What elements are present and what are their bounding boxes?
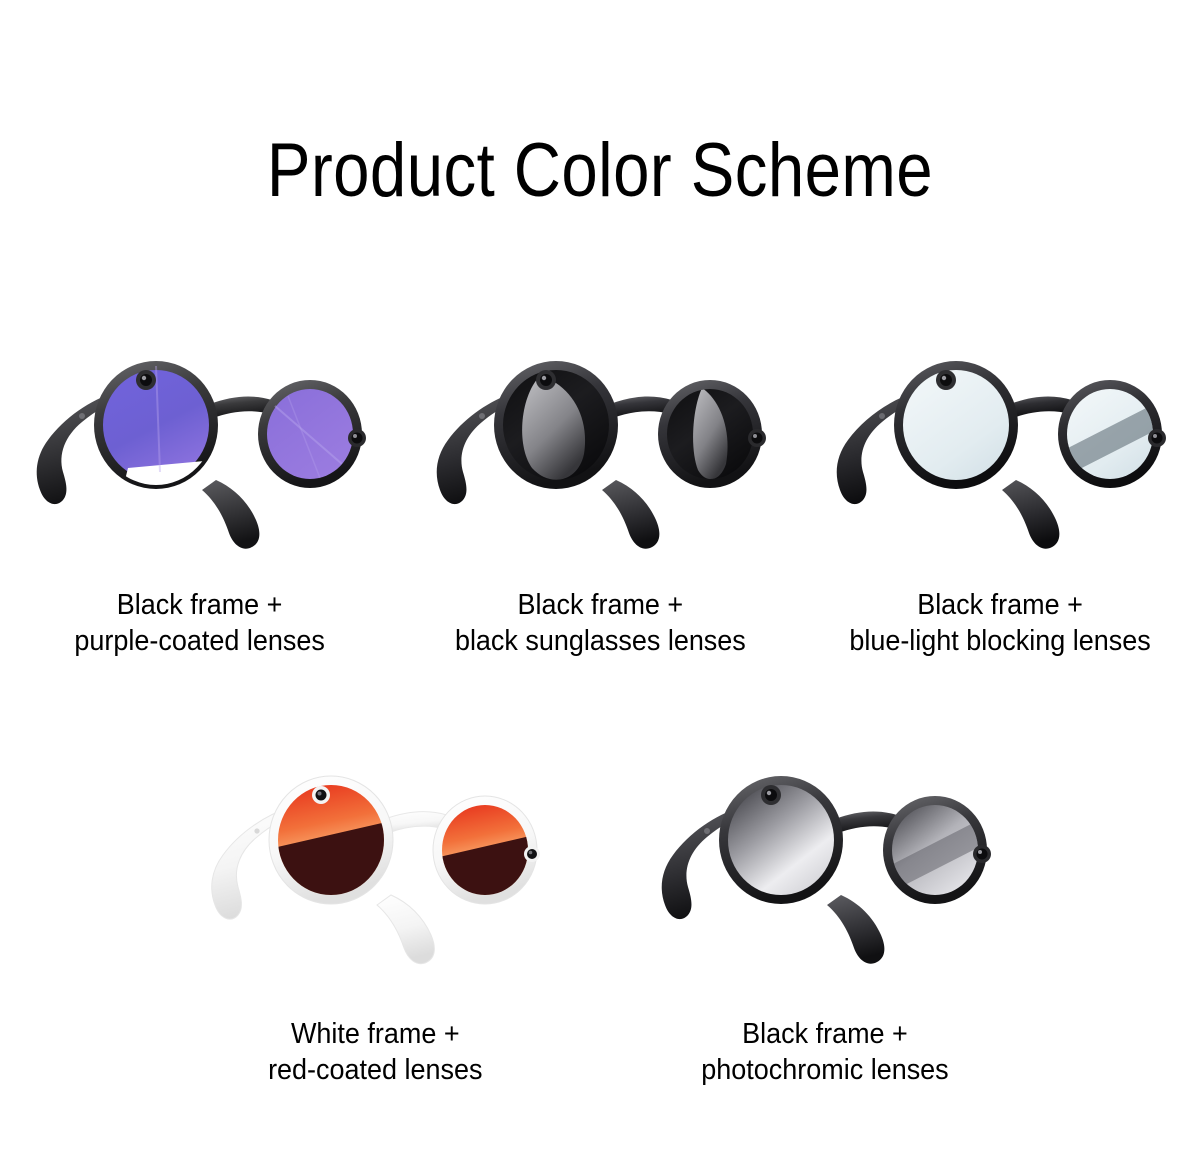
lens-left [894, 361, 1018, 489]
lens-right [433, 796, 539, 910]
led-indicator-icon [479, 413, 485, 419]
caption-line-2: photochromic lenses [701, 1052, 948, 1088]
lens-right [1058, 380, 1164, 488]
smart-glasses-icon [420, 330, 780, 565]
led-indicator-icon [879, 413, 885, 419]
caption-line-2: red-coated lenses [268, 1052, 482, 1088]
product-caption-black-sunglasses: Black frame + black sunglasses lenses [455, 587, 746, 659]
caption-line-2: purple-coated lenses [75, 623, 325, 659]
product-card-blue-light-blocking[interactable]: Black frame + blue-light blocking lenses [800, 330, 1200, 659]
temple-far [202, 480, 259, 549]
lens-left [94, 361, 218, 500]
product-caption-blue-light-blocking: Black frame + blue-light blocking lenses [849, 587, 1150, 659]
led-indicator-icon [79, 413, 85, 419]
lens-left [494, 361, 618, 489]
lens-right [658, 380, 762, 488]
product-image-photochromic [645, 740, 1005, 990]
product-row-bottom: White frame + red-coated lenses [0, 740, 1200, 1088]
product-card-purple-coated[interactable]: Black frame + purple-coated lenses [0, 330, 400, 659]
led-indicator-icon [704, 828, 710, 834]
temple-far [602, 480, 659, 549]
smart-glasses-icon [820, 330, 1180, 565]
temple-far [827, 895, 884, 964]
product-image-black-sunglasses [420, 330, 780, 565]
lens-right [258, 380, 362, 488]
temple-far [377, 895, 434, 964]
product-caption-photochromic: Black frame + photochromic lenses [701, 1016, 948, 1088]
smart-glasses-icon [20, 330, 380, 565]
lens-left [719, 776, 843, 904]
lens-right [883, 796, 989, 904]
product-caption-purple-coated: Black frame + purple-coated lenses [75, 587, 325, 659]
product-card-red-coated[interactable]: White frame + red-coated lenses [150, 740, 600, 1088]
smart-glasses-icon [195, 740, 555, 990]
caption-line-1: Black frame + [701, 1016, 948, 1052]
product-image-blue-light-blocking [820, 330, 1180, 565]
caption-line-2: black sunglasses lenses [455, 623, 746, 659]
product-card-black-sunglasses[interactable]: Black frame + black sunglasses lenses [400, 330, 800, 659]
product-card-photochromic[interactable]: Black frame + photochromic lenses [600, 740, 1050, 1088]
led-indicator-icon [254, 828, 259, 833]
product-color-scheme-page: Product Color Scheme [0, 0, 1200, 1173]
smart-glasses-icon [645, 740, 1005, 990]
lens-left [269, 776, 395, 912]
temple-far [1002, 480, 1059, 549]
page-title: Product Color Scheme [84, 128, 1116, 214]
product-image-purple-coated [20, 330, 380, 565]
caption-line-1: Black frame + [849, 587, 1150, 623]
caption-line-1: Black frame + [75, 587, 325, 623]
caption-line-1: Black frame + [455, 587, 746, 623]
product-caption-red-coated: White frame + red-coated lenses [268, 1016, 482, 1088]
caption-line-1: White frame + [268, 1016, 482, 1052]
caption-line-2: blue-light blocking lenses [849, 623, 1150, 659]
product-image-red-coated [195, 740, 555, 990]
product-row-top: Black frame + purple-coated lenses [0, 330, 1200, 659]
